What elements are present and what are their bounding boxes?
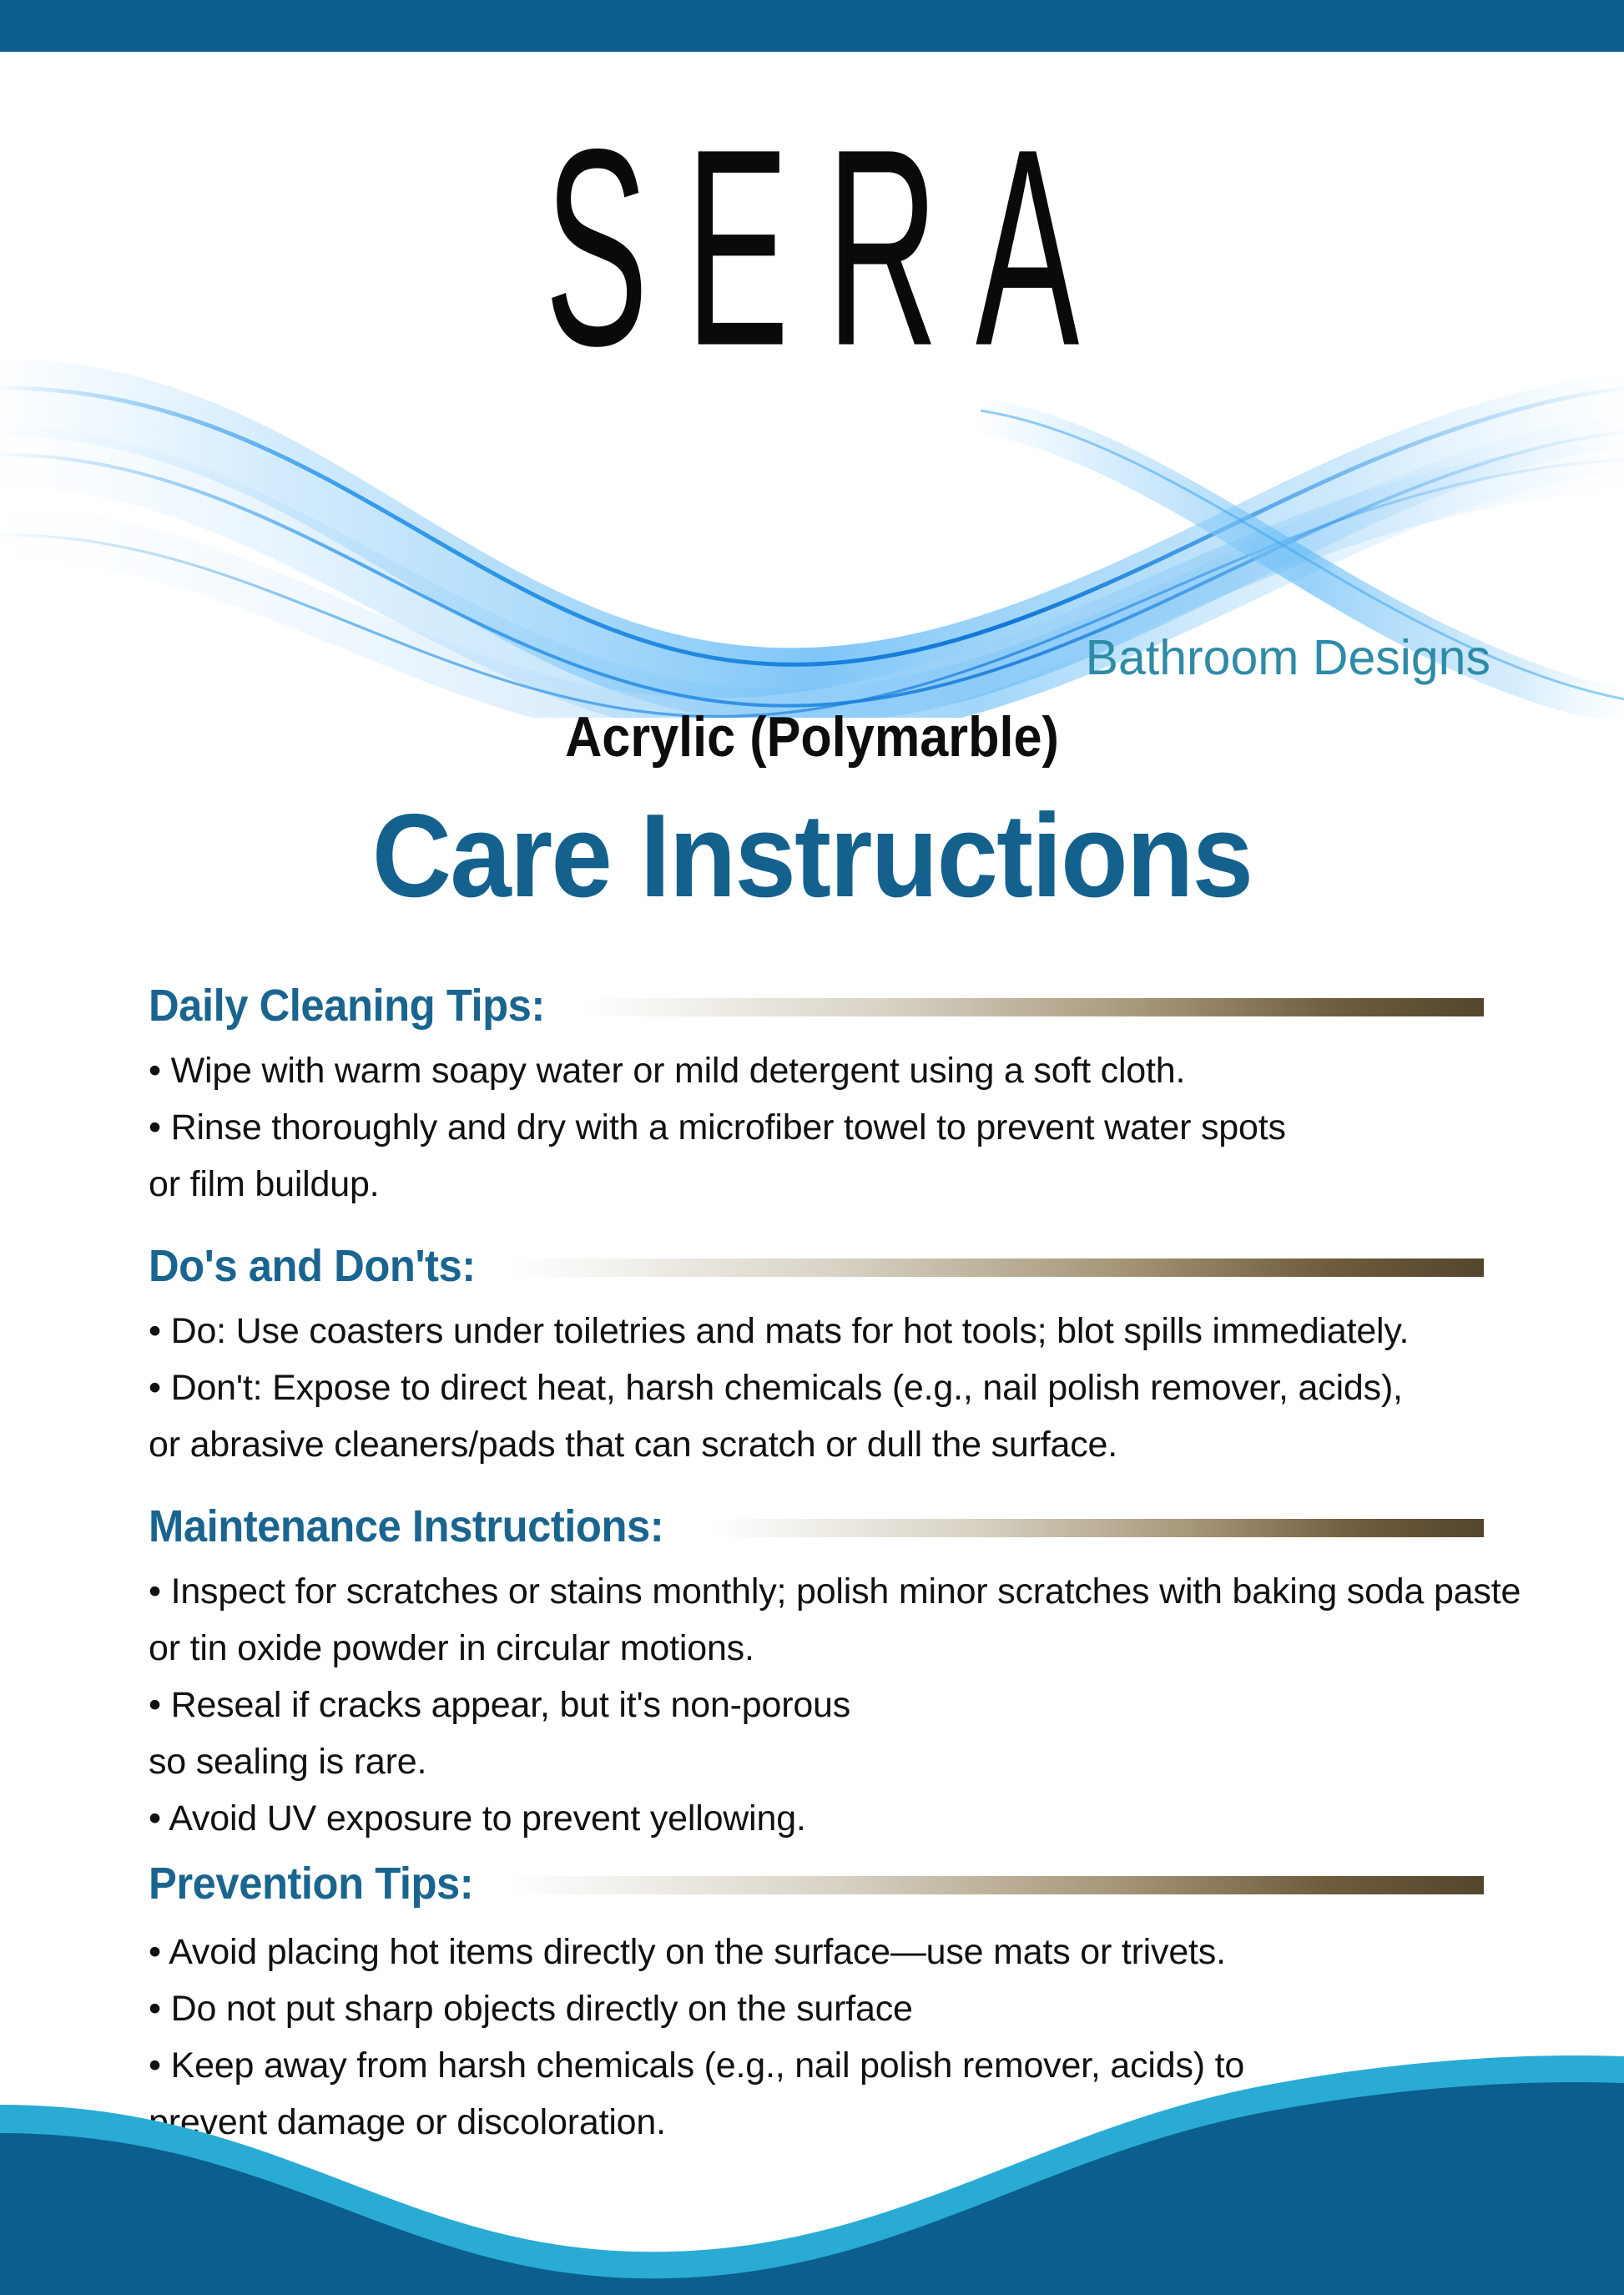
brand-tagline: Bathroom Designs bbox=[0, 631, 1624, 684]
section-divider-rule bbox=[710, 1519, 1484, 1537]
section-maintenance-instructions: Maintenance Instructions: • Inspect for … bbox=[149, 1501, 1484, 1847]
bullet-line: • Do not put sharp objects directly on t… bbox=[149, 1980, 1484, 2037]
bullet-line: • Rinse thoroughly and dry with a microf… bbox=[149, 1099, 1484, 1156]
section-header: Do's and Don'ts: bbox=[149, 1241, 1484, 1291]
care-instructions-poster: SERA bbox=[0, 0, 1624, 2295]
bullet-line: • Inspect for scratches or stains monthl… bbox=[149, 1563, 1484, 1620]
bullet-list: • Do: Use coasters under toiletries and … bbox=[149, 1303, 1484, 1473]
section-divider-rule bbox=[510, 1258, 1484, 1277]
bullet-line: • Wipe with warm soapy water or mild det… bbox=[149, 1042, 1484, 1099]
section-dos-and-donts: Do's and Don'ts: • Do: Use coasters unde… bbox=[149, 1241, 1484, 1473]
bullet-list: • Wipe with warm soapy water or mild det… bbox=[149, 1042, 1484, 1213]
section-divider-rule bbox=[583, 998, 1484, 1016]
bullet-line: • Do: Use coasters under toiletries and … bbox=[149, 1303, 1484, 1359]
bullet-line: or film buildup. bbox=[149, 1156, 1484, 1213]
bullet-line: • Reseal if cracks appear, but it's non-… bbox=[149, 1677, 1484, 1733]
section-title: Daily Cleaning Tips: bbox=[149, 981, 545, 1031]
bullet-line: so sealing is rare. bbox=[149, 1733, 1484, 1790]
bullet-line: or abrasive cleaners/pads that can scrat… bbox=[149, 1416, 1484, 1473]
sera-logo-wordmark: SERA bbox=[309, 107, 1316, 387]
content-area: Daily Cleaning Tips: • Wipe with warm so… bbox=[149, 981, 1484, 2151]
section-title: Prevention Tips: bbox=[149, 1859, 473, 1909]
page-title: Care Instructions bbox=[57, 793, 1567, 920]
top-banner bbox=[0, 0, 1624, 52]
product-name: Acrylic (Polymarble) bbox=[81, 705, 1542, 769]
section-title: Maintenance Instructions: bbox=[149, 1501, 663, 1551]
section-divider-rule bbox=[507, 1876, 1484, 1894]
section-header: Maintenance Instructions: bbox=[149, 1501, 1484, 1551]
footer-wave-graphic bbox=[0, 2053, 1624, 2295]
section-title: Do's and Don'ts: bbox=[149, 1241, 476, 1291]
section-header: Prevention Tips: bbox=[149, 1859, 1484, 1909]
footer-wave-dark bbox=[0, 2082, 1624, 2295]
bullet-list: • Inspect for scratches or stains monthl… bbox=[149, 1563, 1484, 1847]
bullet-line: or tin oxide powder in circular motions. bbox=[149, 1620, 1484, 1677]
bullet-line: • Avoid UV exposure to prevent yellowing… bbox=[149, 1790, 1484, 1847]
section-header: Daily Cleaning Tips: bbox=[149, 981, 1484, 1031]
bullet-line: • Avoid placing hot items directly on th… bbox=[149, 1924, 1484, 1980]
bullet-line: • Don't: Expose to direct heat, harsh ch… bbox=[149, 1359, 1484, 1416]
wave-line-1 bbox=[0, 387, 1624, 664]
section-daily-cleaning-tips: Daily Cleaning Tips: • Wipe with warm so… bbox=[149, 981, 1484, 1213]
